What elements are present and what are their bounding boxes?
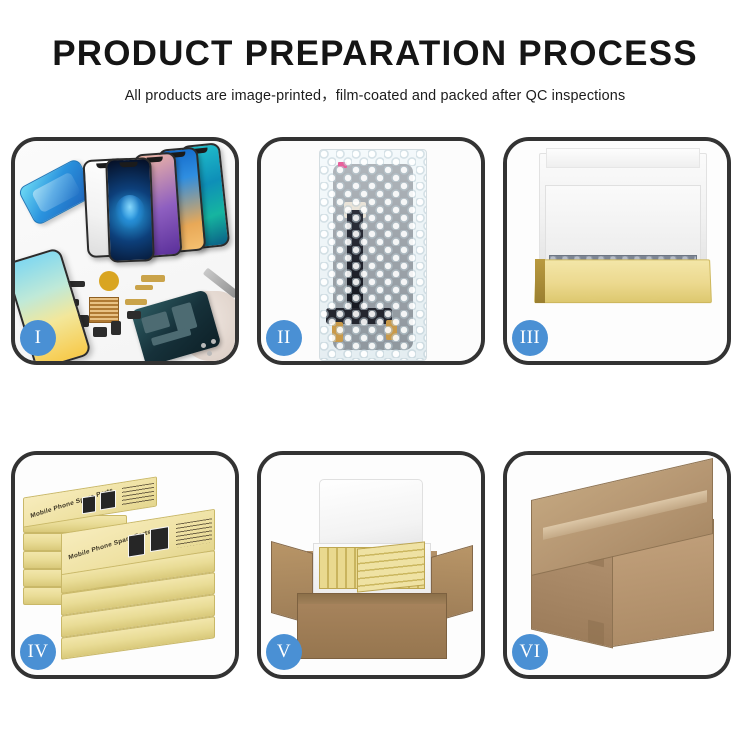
carton-front-wall — [297, 593, 447, 659]
yellow-box-tray — [534, 259, 712, 303]
white-foam-insert — [545, 185, 701, 265]
foam-box-open-lid — [319, 479, 423, 547]
step-badge-5: V — [266, 634, 302, 670]
step-badge-3: III — [512, 320, 548, 356]
step-panel-1: I — [11, 137, 239, 365]
bubble-wrap-bag — [319, 149, 427, 361]
page-title: PRODUCT PREPARATION PROCESS — [0, 36, 750, 73]
steps-grid: I II — [11, 137, 739, 679]
step-panel-6: VI — [503, 451, 731, 679]
step-badge-6: VI — [512, 634, 548, 670]
phone-screen-jellyfish — [105, 157, 155, 263]
yellow-box-side-wall — [535, 259, 545, 303]
step-panel-3: III — [503, 137, 731, 365]
product-preparation-infographic: PRODUCT PREPARATION PROCESS All products… — [0, 0, 750, 750]
step-panel-5: V — [257, 451, 485, 679]
page-subtitle: All products are image-printed，film-coat… — [0, 84, 750, 105]
step-panel-2: II — [257, 137, 485, 365]
bubble-texture — [320, 150, 426, 360]
yellow-boxes-stacked — [357, 541, 425, 592]
header: PRODUCT PREPARATION PROCESS All products… — [0, 0, 750, 105]
step-badge-4: IV — [20, 634, 56, 670]
step-panel-4: Mobile Phone Spare Parts Mobile Phone Sp… — [11, 451, 239, 679]
step-badge-2: II — [266, 320, 302, 356]
step-badge-1: I — [20, 320, 56, 356]
